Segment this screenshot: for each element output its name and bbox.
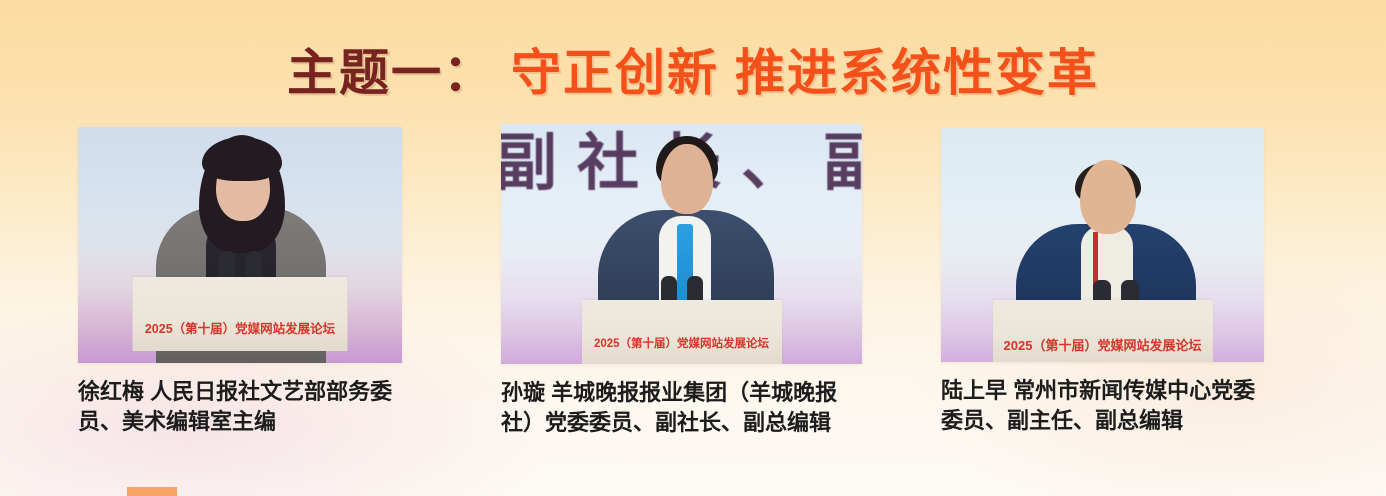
speaker-1-fringe bbox=[202, 137, 282, 181]
page-title-orange-part: 守正创新 推进系统性变革 bbox=[511, 45, 1099, 101]
speaker-photo-3: 2025（第十届）党媒网站发展论坛 bbox=[941, 128, 1264, 362]
speaker-card-1: 2025（第十届）党媒网站发展论坛 徐红梅 人民日报社文艺部部务委员、美术编辑室… bbox=[78, 127, 402, 437]
speaker-2-head bbox=[661, 144, 713, 214]
speaker-photo-1: 2025（第十届）党媒网站发展论坛 bbox=[78, 127, 402, 363]
speaker-3-podium: 2025（第十届）党媒网站发展论坛 bbox=[993, 300, 1213, 362]
speaker-1-podium: 2025（第十届）党媒网站发展论坛 bbox=[133, 277, 348, 351]
speaker-caption-1: 徐红梅 人民日报社文艺部部务委员、美术编辑室主编 bbox=[78, 377, 398, 437]
footer-accent-chip bbox=[127, 487, 177, 496]
speaker-caption-2: 孙璇 羊城晚报报业集团（羊城晚报社）党委委员、副社长、副总编辑 bbox=[501, 378, 861, 438]
speaker-3-podium-text: 2025（第十届）党媒网站发展论坛 bbox=[1004, 335, 1202, 354]
speaker-2-podium: 2025（第十届）党媒网站发展论坛 bbox=[582, 300, 782, 364]
speaker-3-head bbox=[1080, 160, 1136, 234]
page-title: 主题一：守正创新 推进系统性变革 bbox=[0, 44, 1386, 102]
speaker-card-2: 副社长、副总编 2025（第十届）党媒网站发展论坛 孙璇 羊城晚报报业集团（羊城… bbox=[501, 124, 862, 438]
speaker-caption-3: 陆上早 常州市新闻传媒中心党委委员、副主任、副总编辑 bbox=[941, 376, 1264, 436]
slide-canvas: 主题一：守正创新 推进系统性变革 2025（第十届）党媒网站发展论坛 徐红梅 人… bbox=[0, 0, 1386, 496]
speaker-1-podium-text: 2025（第十届）党媒网站发展论坛 bbox=[145, 318, 335, 337]
speaker-card-3: 2025（第十届）党媒网站发展论坛 陆上早 常州市新闻传媒中心党委委员、副主任、… bbox=[941, 128, 1264, 436]
speaker-photo-2: 副社长、副总编 2025（第十届）党媒网站发展论坛 bbox=[501, 124, 862, 364]
speaker-2-podium-text: 2025（第十届）党媒网站发展论坛 bbox=[594, 335, 769, 351]
page-title-dark-part: 主题一： bbox=[287, 45, 495, 101]
